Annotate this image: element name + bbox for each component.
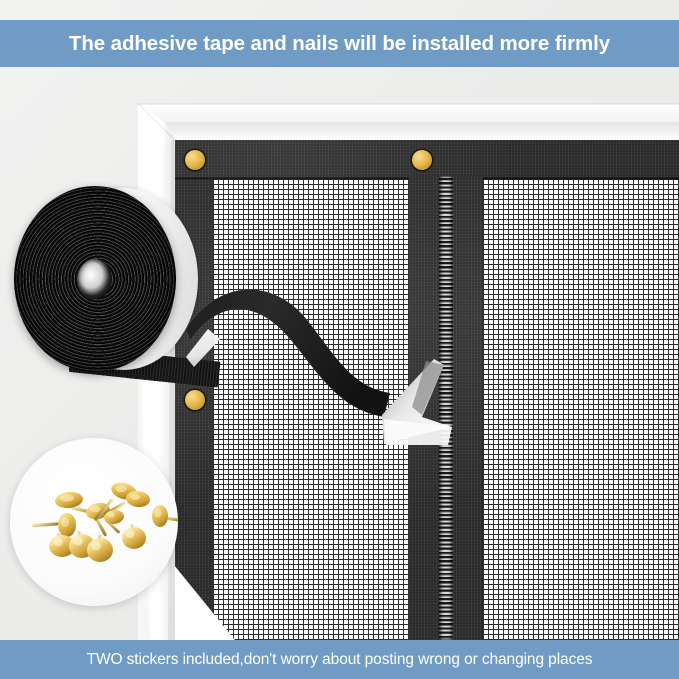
top-banner-text: The adhesive tape and nails will be inst… xyxy=(69,32,610,56)
adhesive-tape-roll xyxy=(14,186,200,372)
nail-2 xyxy=(32,513,76,537)
top-banner: The adhesive tape and nails will be inst… xyxy=(0,20,679,67)
nail-10 xyxy=(152,505,178,527)
product-image: The adhesive tape and nails will be inst… xyxy=(0,0,679,679)
nail-head-1 xyxy=(185,150,205,170)
nail-head-2 xyxy=(412,150,432,170)
nails-illustration xyxy=(10,438,178,606)
tape-roll-coil xyxy=(14,186,176,372)
tape-roll-core-hole xyxy=(78,259,112,299)
bottom-banner: TWO stickers included,don't worry about … xyxy=(0,640,679,679)
nails-inset-circle xyxy=(10,438,178,606)
bottom-banner-text: TWO stickers included,don't worry about … xyxy=(87,651,593,669)
mesh-panel-right xyxy=(483,180,679,640)
nail-9 xyxy=(122,524,146,549)
adhesive-tape-strip xyxy=(186,295,486,455)
